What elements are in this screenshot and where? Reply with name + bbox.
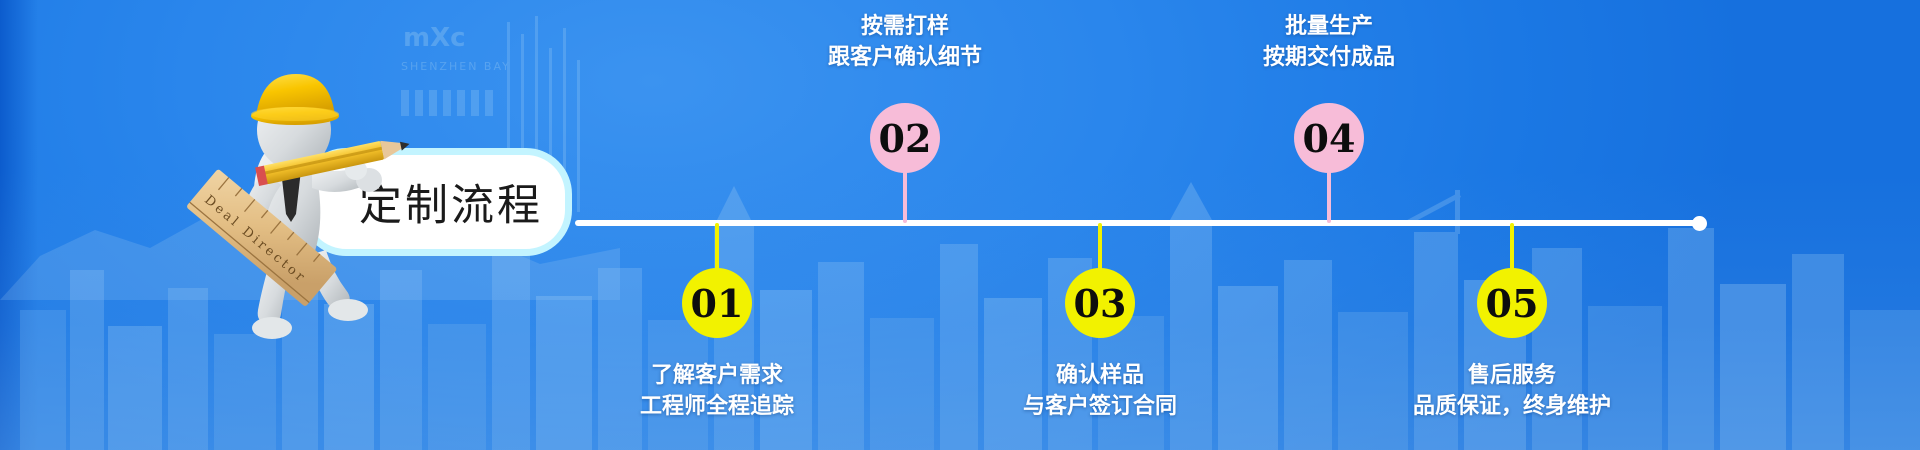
step-number: 04: [1303, 116, 1356, 161]
banner-root: mXc SHENZHEN BAY 01了解客户需求工程师全程追踪02按需打样跟客…: [0, 0, 1920, 450]
step-caption-02: 按需打样跟客户确认细节: [685, 11, 1125, 73]
step-caption-03: 确认样品与客户签订合同: [880, 360, 1320, 422]
step-number: 01: [691, 281, 744, 326]
step-number: 03: [1074, 281, 1127, 326]
step-caption-line1: 确认样品: [880, 360, 1320, 391]
engineer-character-illustration: Deal Director: [160, 58, 450, 348]
step-number: 02: [879, 116, 932, 161]
step-caption-line2: 品质保证，终身维护: [1292, 391, 1732, 422]
step-badge-05[interactable]: 05: [1477, 268, 1547, 338]
timeline-line: [575, 220, 1701, 226]
step-badge-01[interactable]: 01: [682, 268, 752, 338]
skyline-brand-text: mXc: [403, 23, 466, 53]
step-caption-line1: 了解客户需求: [497, 360, 937, 391]
step-number: 05: [1486, 281, 1539, 326]
step-caption-04: 批量生产按期交付成品: [1109, 11, 1549, 73]
step-caption-line1: 批量生产: [1109, 11, 1549, 42]
step-badge-02[interactable]: 02: [870, 103, 940, 173]
step-caption-line2: 与客户签订合同: [880, 391, 1320, 422]
step-caption-line2: 跟客户确认细节: [685, 42, 1125, 73]
step-badge-03[interactable]: 03: [1065, 268, 1135, 338]
step-caption-line2: 按期交付成品: [1109, 42, 1549, 73]
step-badge-04[interactable]: 04: [1294, 103, 1364, 173]
step-caption-line1: 按需打样: [685, 11, 1125, 42]
timeline-end-dot: [1692, 216, 1707, 231]
step-caption-line1: 售后服务: [1292, 360, 1732, 391]
step-caption-01: 了解客户需求工程师全程追踪: [497, 360, 937, 422]
step-caption-line2: 工程师全程追踪: [497, 391, 937, 422]
step-caption-05: 售后服务品质保证，终身维护: [1292, 360, 1732, 422]
